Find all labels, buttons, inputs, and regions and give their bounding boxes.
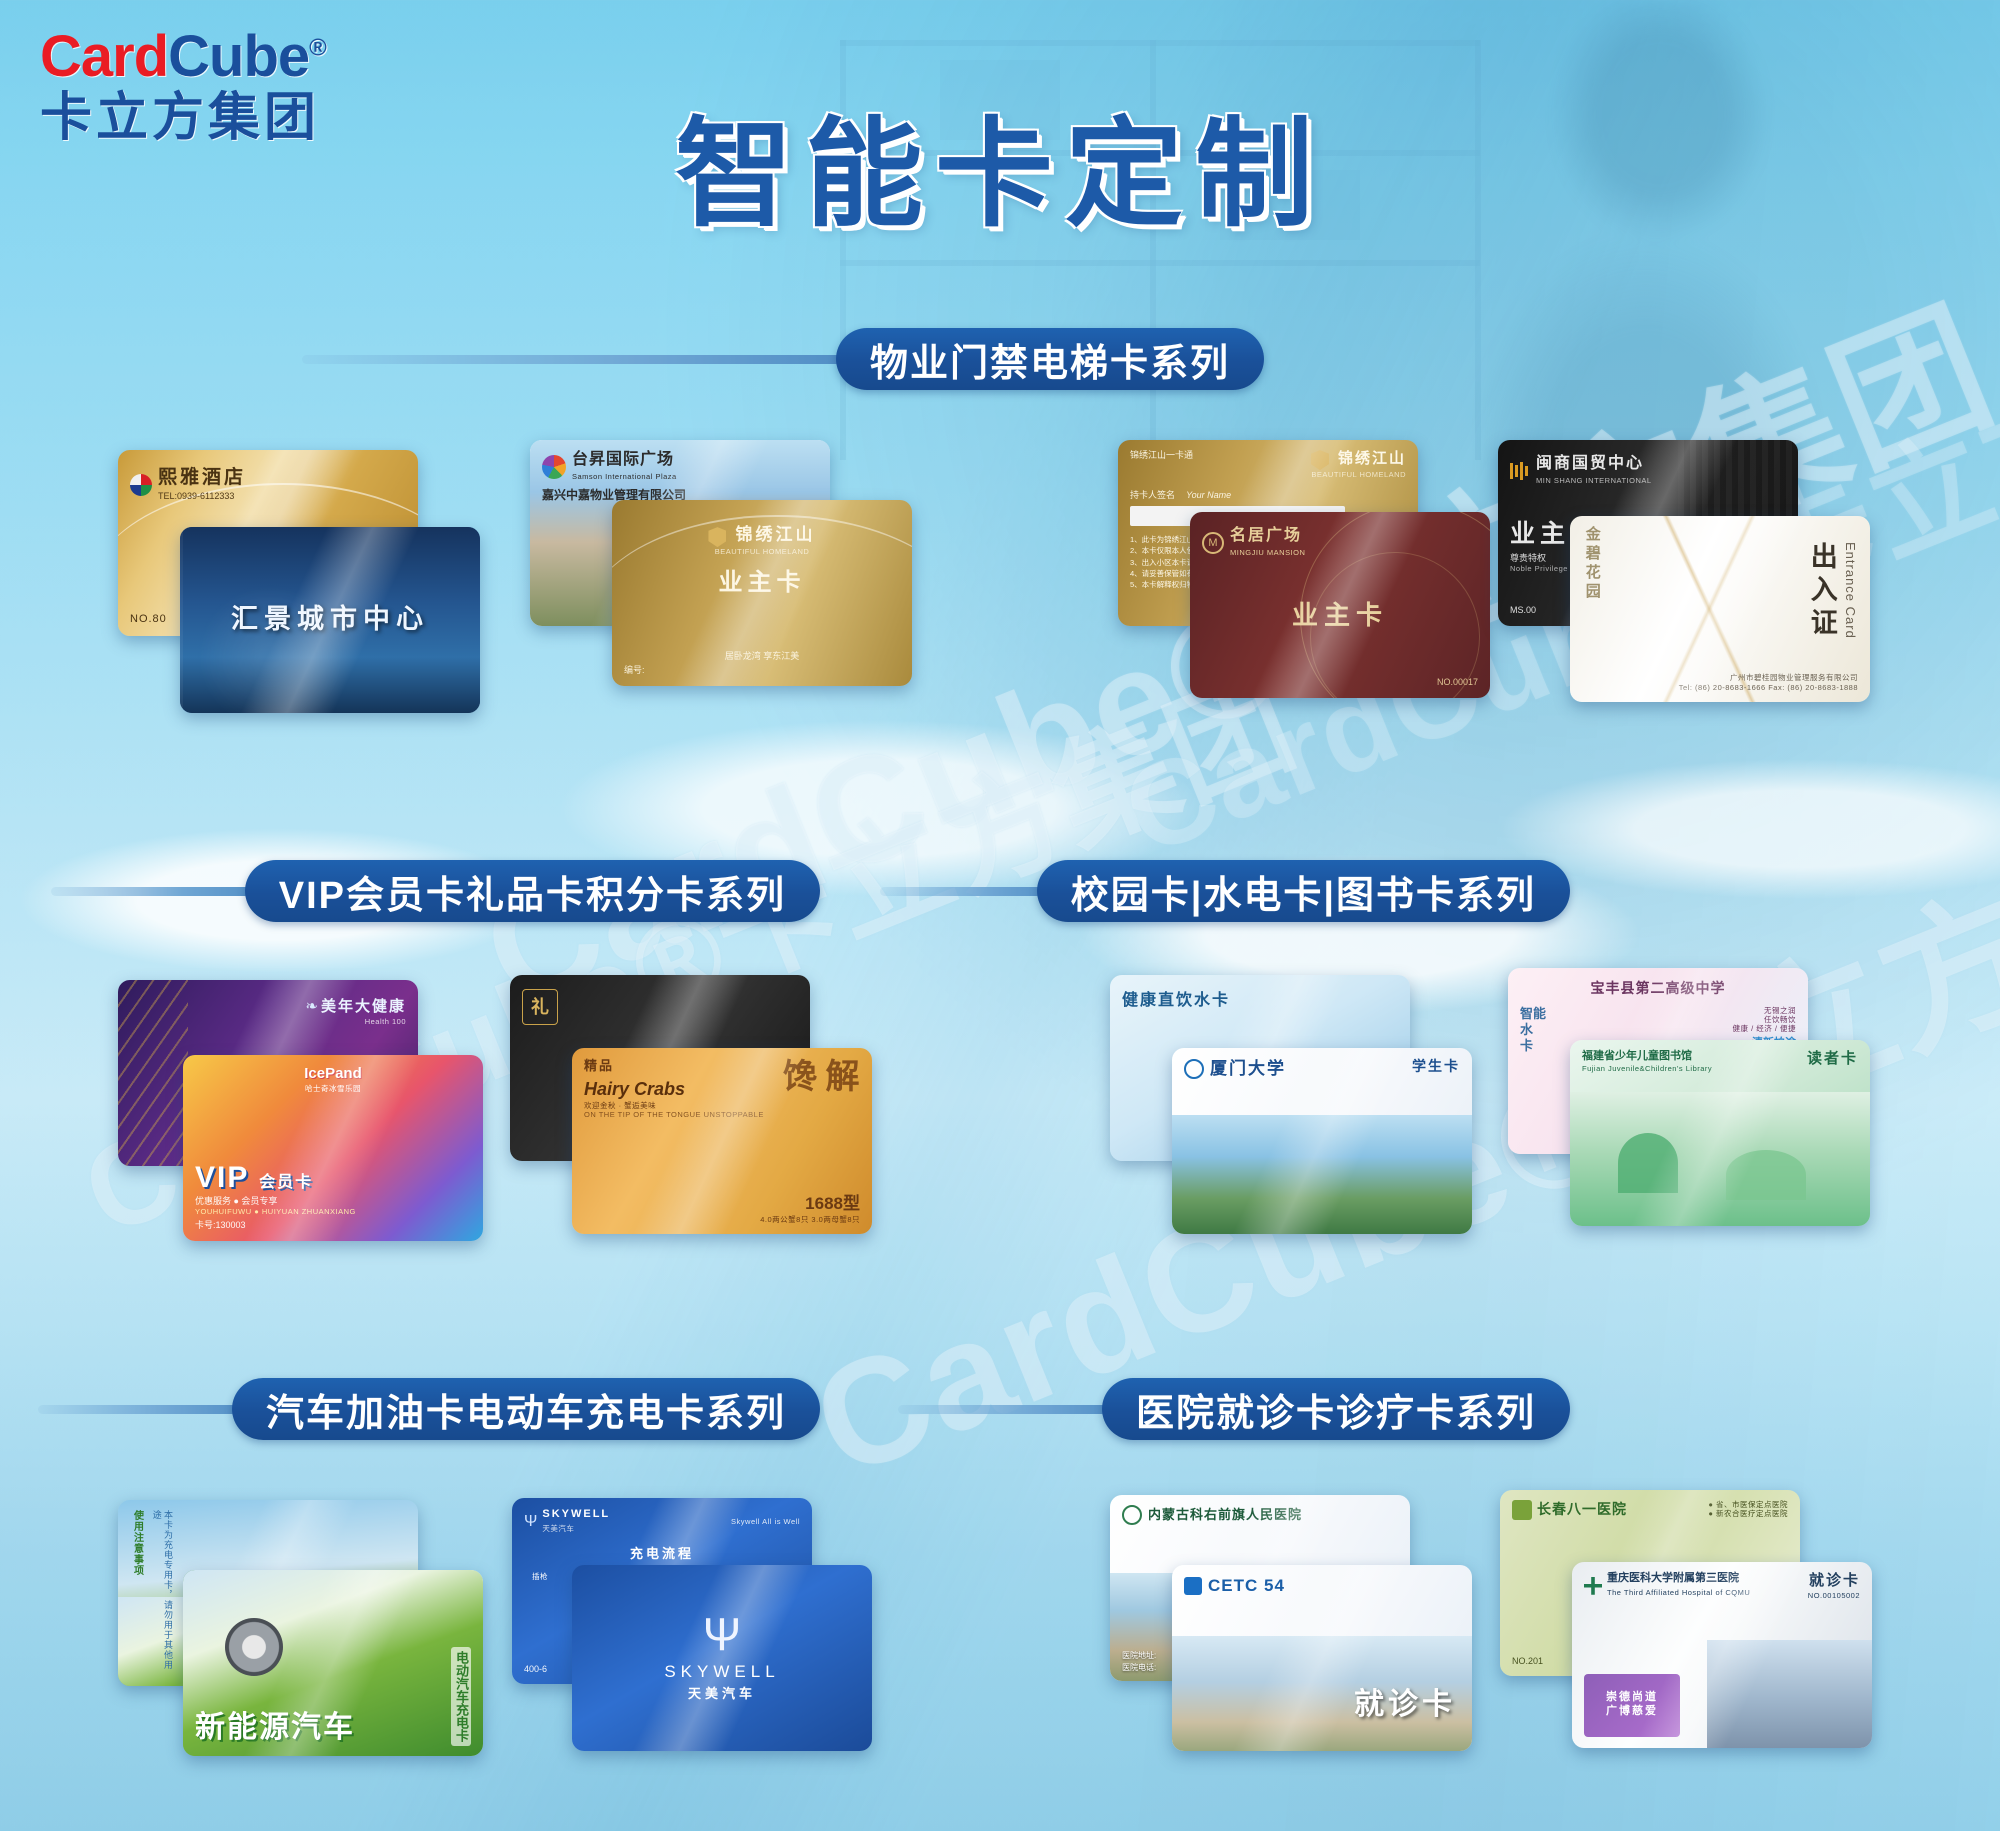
skywell-logo-icon: Ψ [703,1614,741,1655]
school-sub2: 任饮畅饮 [1732,1015,1796,1024]
header-rule [898,1405,1128,1414]
vip-label: VIP [195,1161,249,1194]
jinxiu-crest-icon [1311,450,1329,470]
header-rule [51,887,271,896]
jinxiu-crest-icon [708,527,726,547]
card-cqmu-third: 崇德尚道 广博慈爱 重庆医科大学附属第三医院 The Third Affilia… [1572,1562,1872,1748]
vip-card-no-label: 卡号: [195,1220,216,1230]
hotel-logo-icon [130,474,152,496]
card-skywell-brand: Ψ SKYWELL 天美汽车 [572,1565,872,1751]
jinxiu-slogan: 居卧龙湾 享东江美 [624,651,900,662]
hotel-name: 熙雅酒店 [158,467,246,488]
minshang-logo-icon [1510,462,1530,480]
hospital-tel-label: 医院电话: [1122,1663,1156,1673]
school-line3: 卡 [1520,1038,1546,1054]
water-card-title: 健康直饮水卡 [1122,991,1398,1011]
section-header-vip-gift-points: VIP会员卡礼品卡积分卡系列 [0,860,820,922]
changchun-logo-icon [1512,1500,1532,1520]
skywell-hotline: 400-6 [524,1664,547,1675]
ev-note-body: 本卡为充电专用卡，请勿用于其他用途 [151,1510,174,1676]
crab-sub-en: ON THE TIP OF THE TONGUE UNSTOPPABLE [584,1110,764,1119]
health101-leaf-icon: ❧ [305,998,318,1015]
vip-card-no: 130003 [216,1220,246,1230]
entrance-title-cn: 出入证 [1804,542,1838,641]
hospital-address-label: 医院地址: [1122,1651,1156,1661]
hospital-name: 内蒙古科右前旗人民医院 [1148,1507,1302,1523]
vip-benefit-pinyin: YOUHUIFUWU ● HUIYUAN ZHUANXIANG [195,1207,471,1216]
header-rule [302,355,862,364]
xiamen-card-type: 学生卡 [1412,1058,1460,1076]
header-rule [38,1405,258,1414]
xiamen-seal-icon [1184,1059,1204,1079]
crab-spec: 4.0两公蟹8只 3.0两母蟹8只 [584,1215,860,1224]
mingju-card-type: 业主卡 [1202,599,1478,632]
card-hairy-crabs: 精品 Hairy Crabs 欢迎金秋 · 蟹逅美味 ON THE TIP OF… [572,1048,872,1234]
skywell-brand-en-small: SKYWELL [542,1508,610,1520]
skywell-slogan: Skywell All is Well [731,1517,800,1526]
library-card-type: 读者卡 [1807,1050,1858,1069]
city-center-title: 汇景城市中心 [231,603,429,637]
school-line1: 智能 [1520,1006,1546,1022]
card-serial: NO.00017 [1202,677,1478,688]
library-name-en: Fujian Juvenile&Children's Library [1582,1064,1712,1073]
page-title: 智能卡定制 [0,78,2000,249]
card-serial: NO.80 [130,613,167,627]
hospital-seal-icon [1122,1505,1142,1525]
school-name: 宝丰县第二高级中学 [1520,980,1796,998]
gift-glyph-icon: 礼 [522,989,558,1025]
health101-brand-cn: 美年大健康 [321,998,406,1015]
mingju-brand-cn: 名居广场 [1230,527,1302,544]
section-header-campus-utility-library: 校园卡|水电卡|图书卡系列 [880,860,1570,922]
mingju-brand-en: MINGJIU MANSION [1230,548,1305,557]
card-serial: NO.00105002 [1808,1591,1860,1600]
library-name-cn: 福建省少年儿童图书馆 [1582,1050,1712,1064]
section-header-fuel-ev-charging: 汽车加油卡电动车充电卡系列 [0,1378,820,1440]
school-sub1: 无锡之润 [1732,1006,1796,1015]
skywell-step: 插枪 [532,1572,548,1581]
minshang-sub-cn: 尊贵特权 [1510,553,1546,563]
island-title-cn: 哈士奇冰雪乐园 [195,1084,471,1093]
mingju-logo-icon: M [1202,532,1224,554]
signature-placeholder: Your Name [1186,490,1231,500]
card-vip-island: IcePand 哈士奇冰雪乐园 VIP 会员卡 优惠服务 ● 会员专享 YOUH… [183,1055,483,1241]
card-serial: NO.201 [1512,1656,1543,1667]
cqmu-hospital-en: The Third Affiliated Hospital of CQMU [1607,1588,1750,1597]
crab-title-en: Hairy Crabs [584,1078,764,1101]
card-mingju-mansion: M 名居广场 MINGJIU MANSION 业主卡 NO.00017 [1190,512,1490,698]
changchun-note2: ● 新农合医疗定点医院 [1708,1509,1788,1518]
crab-sub-cn: 欢迎金秋 · 蟹逅美味 [584,1101,764,1110]
header-rule [880,887,1063,896]
entrance-contact: Tel: (86) 20-8683-1666 Fax: (86) 20-8683… [1679,683,1858,692]
section-header-hospital-visit: 医院就诊卡诊疗卡系列 [880,1378,1570,1440]
section-title: 汽车加油卡电动车充电卡系列 [232,1378,820,1440]
crab-badge: 精品 [584,1058,764,1074]
section-title: VIP会员卡礼品卡积分卡系列 [245,860,820,922]
card-city-center: 汇景城市中心 [180,527,480,713]
signature-label: 持卡人签名 [1130,490,1175,500]
xiamen-brand: 厦门大学 [1210,1058,1286,1079]
section-title: 医院就诊卡诊疗卡系列 [1102,1378,1570,1440]
changchun-note1: ● 省、市医保定点医院 [1708,1500,1788,1509]
school-sub3: 健康 / 经济 / 便捷 [1732,1024,1796,1033]
cqmu-hospital-cn: 重庆医科大学附属第三医院 [1607,1572,1739,1584]
minshang-brand-en: MIN SHANG INTERNATIONAL [1536,476,1652,485]
section-title: 物业门禁电梯卡系列 [836,328,1264,390]
skywell-flow-title: 充电流程 [524,1546,800,1562]
cqmu-card-type: 就诊卡 [1808,1572,1860,1591]
changchun-hospital: 长春八一医院 [1537,1501,1627,1519]
jinxiu-brand-en: BEAUTIFUL HOMELAND [624,547,900,556]
crab-big-cn: 解馋 [775,1058,860,1120]
allinone-brand-en: BEAUTIFUL HOMELAND [1311,470,1406,479]
ev-note-title: 使用注意事项 [130,1510,143,1676]
skywell-brand-cn-small: 天美汽车 [542,1524,574,1533]
plaza-name-en: Samson International Plaza [572,472,677,481]
card-xiamen-univ: 厦门大学 学生卡 [1172,1048,1472,1234]
allinone-brand-cn: 锦绣江山 [1338,450,1406,467]
island-title-en: IcePand [195,1065,471,1084]
vip-benefit: 优惠服务 ● 会员专享 [195,1196,471,1207]
entrance-garden-name: 金碧花园 [1582,526,1601,692]
plaza-logo-icon [542,455,566,479]
ev-side-label: 电动汽车充电卡 [451,1647,471,1746]
cetc-card-type: 就诊卡 [1354,1686,1456,1724]
section-header-property-access-elevator: 物业门禁电梯卡系列 [0,328,1264,390]
ev-title-cn: 新能源汽车 [195,1709,355,1747]
cqmu-cross-icon [1584,1577,1602,1595]
registered-trademark-icon: ® [309,35,326,62]
card-ev-charge-main: 新能源汽车 电动汽车充电卡 [183,1570,483,1756]
skywell-logo-icon: Ψ [524,1512,537,1532]
card-jinxiu-owner: 锦绣江山 BEAUTIFUL HOMELAND 业主卡 居卧龙湾 享东江美 编号… [612,500,912,686]
jinxiu-number-label: 编号: [624,665,900,676]
minshang-brand-cn: 闽商国贸中心 [1536,455,1644,472]
crab-model: 1688型 [584,1193,860,1214]
section-title: 校园卡|水电卡|图书卡系列 [1037,860,1570,922]
skywell-brand-cn: 天美汽车 [688,1686,756,1702]
allinone-header: 锦绣江山一卡通 [1130,450,1193,461]
jinxiu-card-type: 业主卡 [624,568,900,598]
skywell-brand-en: SKYWELL [664,1661,779,1682]
cetc-logo-icon [1184,1577,1202,1595]
plaza-name-cn: 台昇国际广场 [572,451,674,468]
vip-member-label: 会员卡 [259,1174,313,1191]
hotel-telephone: TEL:0939-6112333 [158,491,234,501]
entrance-title-en: Entrance Card [1842,542,1858,639]
cetc-brand: CETC 54 [1208,1575,1285,1596]
school-line2: 水 [1520,1022,1546,1038]
entrance-company: 广州市碧桂园物业管理服务有限公司 [1679,673,1858,682]
card-entrance: 金碧花园 出入证 Entrance Card 广州市碧桂园物业管理服务有限公司 … [1570,516,1870,702]
health101-brand-en: Health 100 [305,1017,406,1026]
card-cetc54: CETC 54 就诊卡 [1172,1565,1472,1751]
card-library: 福建省少年儿童图书馆 Fujian Juvenile&Children's Li… [1570,1040,1870,1226]
jinxiu-brand-cn: 锦绣江山 [736,525,816,544]
